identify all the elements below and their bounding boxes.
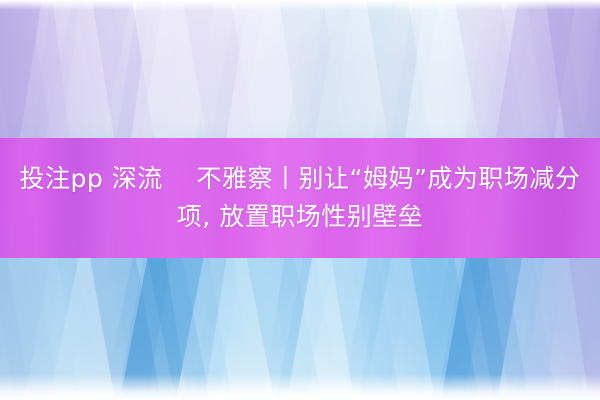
upper-chevron-pattern [0, 0, 600, 140]
top-edge-fade [0, 0, 600, 10]
headline-band: 投注pp 深流 不雅察丨别让“姆妈”成为职场减分项, 放置职场性别壁垒 [0, 138, 600, 258]
banner-image: 投注pp 深流 不雅察丨别让“姆妈”成为职场减分项, 放置职场性别壁垒 [0, 0, 600, 400]
bottom-edge-fade [0, 374, 600, 400]
upper-color-tint [0, 0, 600, 140]
headline-text: 投注pp 深流 不雅察丨别让“姆妈”成为职场减分项, 放置职场性别壁垒 [0, 160, 600, 236]
